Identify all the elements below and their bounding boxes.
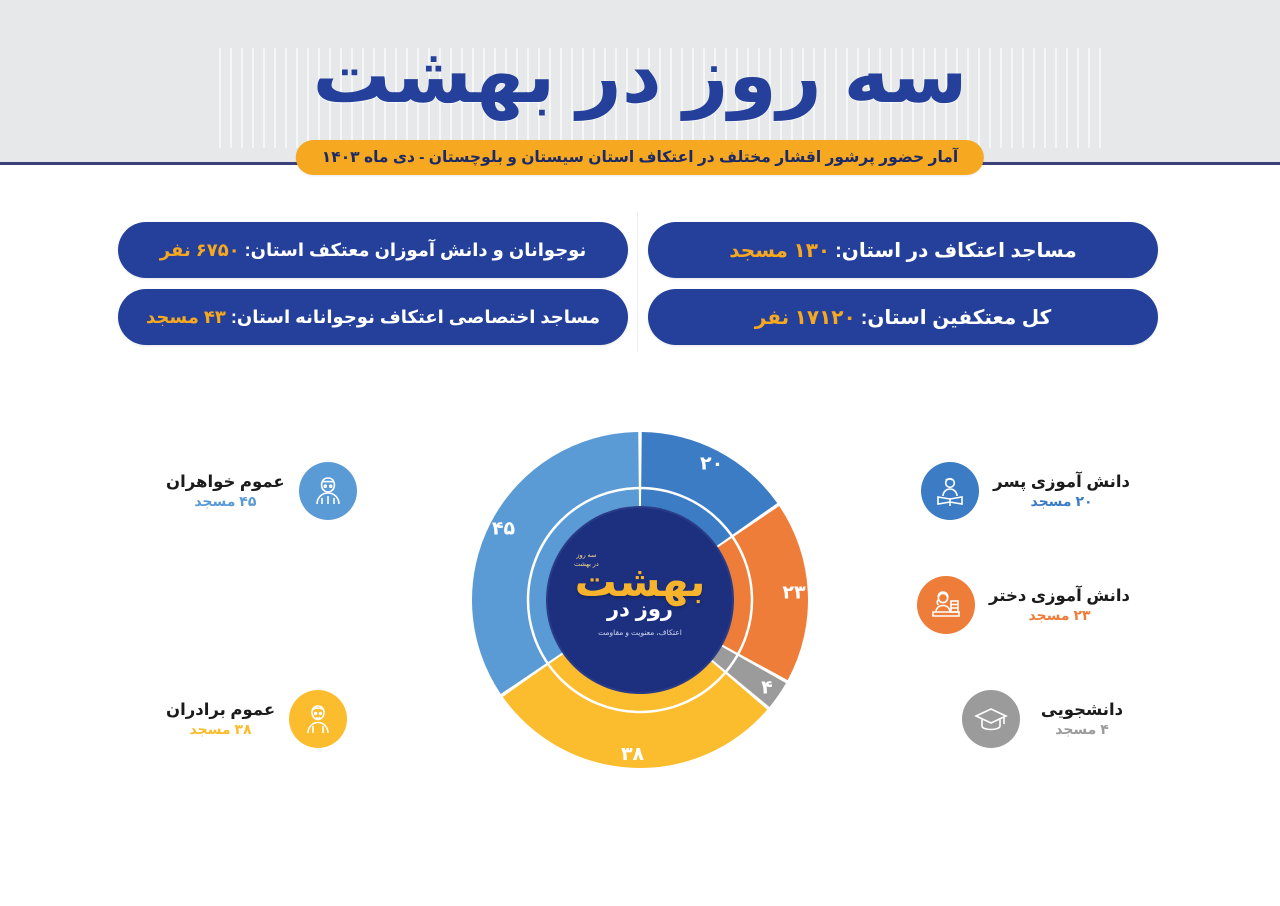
legend-label: عموم برادران (166, 700, 275, 720)
logo-sub-word: روز در (607, 597, 673, 622)
stat-label: مساجد اختصاصی اعتکاف نوجوانانه استان: (231, 307, 600, 328)
donut-slice-label: ۴۵ (492, 517, 516, 539)
legend-label: دانشجویی (1034, 700, 1130, 720)
page-title: سه روز در بهشت (0, 36, 1280, 114)
legend-value: ۲۰ مسجد (993, 493, 1130, 510)
stat-value: ۱۷۱۲۰ نفر (755, 305, 856, 330)
stat-pill-youth-participants: نوجوانان و دانش آموزان معتکف استان: ۶۷۵۰… (118, 222, 628, 278)
legend-text: عموم خواهران ۴۵ مسجد (166, 472, 285, 510)
stat-value: ۶۷۵۰ نفر (160, 240, 240, 261)
legend-value: ۲۳ مسجد (989, 607, 1130, 624)
stat-label: مساجد اعتکاف در استان: (835, 238, 1077, 263)
man-icon (289, 690, 347, 748)
legend-value: ۳۸ مسجد (166, 721, 275, 738)
stat-pill-mosques-total: مساجد اعتکاف در استان: ۱۳۰ مسجد (648, 222, 1158, 278)
legend-value: ۴۵ مسجد (166, 493, 285, 510)
stat-pill-youth-mosques: مساجد اختصاصی اعتکاف نوجوانانه استان: ۴۳… (118, 289, 628, 345)
legend-item-university[interactable]: دانشجویی ۴ مسجد (962, 690, 1130, 748)
legend-item-schoolboys[interactable]: دانش آموزی پسر ۲۰ مسجد (921, 462, 1130, 520)
stat-pill-participants-total: کل معتکفین استان: ۱۷۱۲۰ نفر (648, 289, 1158, 345)
woman-chador-icon (299, 462, 357, 520)
logo-tagline: اعتکاف، معنویت و مقاومت (598, 628, 682, 637)
donut-slice-label: ۳۸ (621, 743, 645, 765)
stat-label: کل معتکفین استان: (861, 305, 1052, 330)
stats-section: مساجد اعتکاف در استان: ۱۳۰ مسجد کل معتکف… (0, 222, 1280, 362)
girl-studying-icon (917, 576, 975, 634)
donut-slice-label: ۲۰ (700, 452, 723, 474)
stat-value: ۴۳ مسجد (146, 307, 226, 328)
donut-chart: ۲۰۲۳۴۳۸۴۵ سه روزدر بهشت بهشت روز در اعتک… (440, 400, 840, 800)
legend-text: دانشجویی ۴ مسجد (1034, 700, 1130, 738)
center-logo: سه روزدر بهشت بهشت روز در اعتکاف، معنویت… (546, 506, 734, 694)
donut-slice-label: ۲۳ (782, 582, 806, 604)
legend-item-schoolgirls[interactable]: دانش آموزی دختر ۲۳ مسجد (917, 576, 1130, 634)
stat-label: نوجوانان و دانش آموزان معتکف استان: (245, 240, 587, 261)
legend-value: ۴ مسجد (1034, 721, 1130, 738)
legend-label: دانش آموزی پسر (993, 472, 1130, 492)
graduation-cap-icon (962, 690, 1020, 748)
legend-item-men[interactable]: عموم برادران ۳۸ مسجد (166, 690, 347, 748)
legend-item-women[interactable]: عموم خواهران ۴۵ مسجد (166, 462, 357, 520)
legend-text: دانش آموزی دختر ۲۳ مسجد (989, 586, 1130, 624)
donut-slice-label: ۴ (761, 677, 773, 699)
legend-label: عموم خواهران (166, 472, 285, 492)
stat-value: ۱۳۰ مسجد (729, 238, 830, 263)
legend-label: دانش آموزی دختر (989, 586, 1130, 606)
stats-column-right: مساجد اعتکاف در استان: ۱۳۰ مسجد کل معتکف… (648, 222, 1158, 356)
page-header: سه روز در بهشت (0, 0, 1280, 163)
legend-text: دانش آموزی پسر ۲۰ مسجد (993, 472, 1130, 510)
stats-column-left: نوجوانان و دانش آموزان معتکف استان: ۶۷۵۰… (118, 222, 628, 356)
logo-micro-text: سه روزدر بهشت (574, 552, 599, 570)
page-subtitle: آمار حضور پرشور اقشار مختلف در اعتکاف اس… (296, 140, 984, 175)
boy-reading-icon (921, 462, 979, 520)
legend-text: عموم برادران ۳۸ مسجد (166, 700, 275, 738)
subtitle-banner: آمار حضور پرشور اقشار مختلف در اعتکاف اس… (0, 140, 1280, 186)
